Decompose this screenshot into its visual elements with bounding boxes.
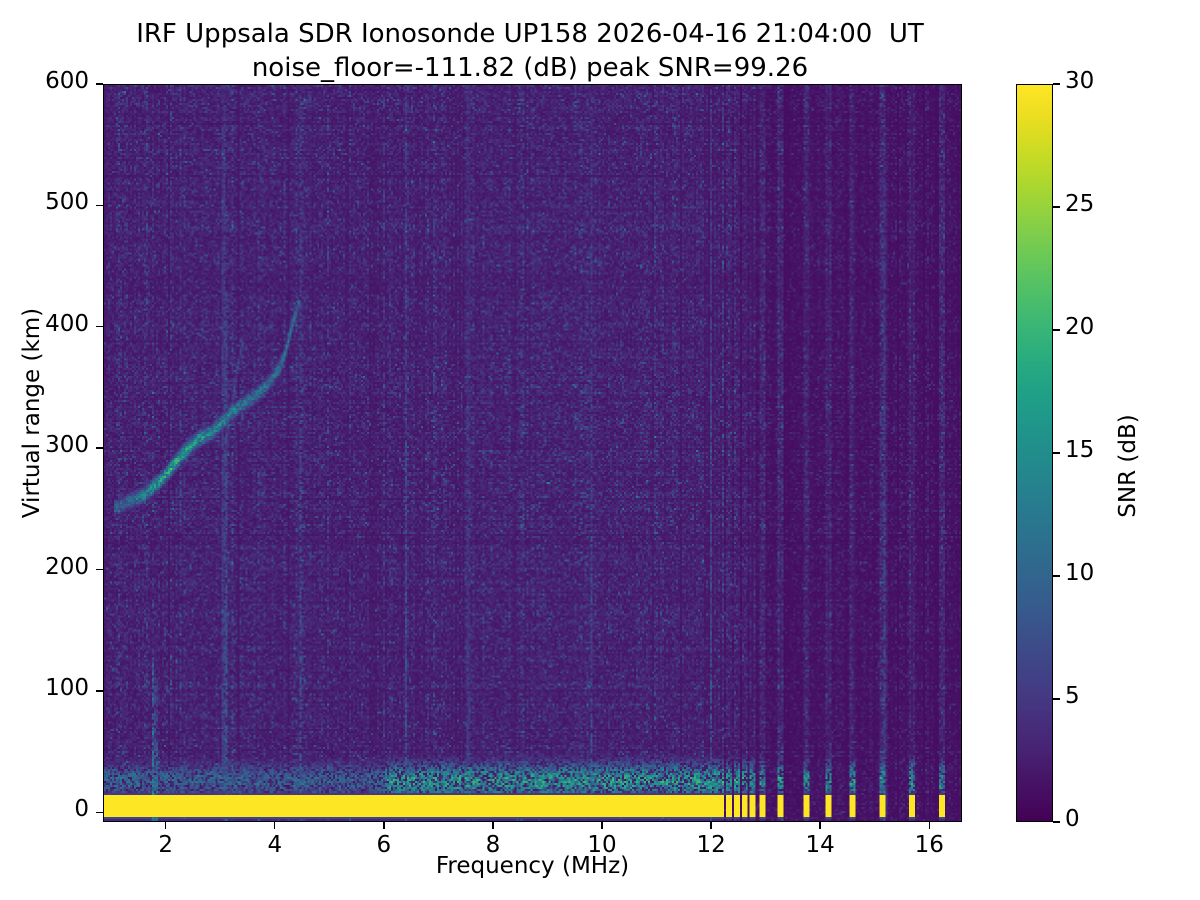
x-tick-label: 12 [681, 832, 741, 858]
figure-title: IRF Uppsala SDR Ionosonde UP158 2026-04-… [0, 18, 1060, 86]
y-tick-mark [96, 326, 103, 327]
y-tick-mark [96, 205, 103, 206]
x-tick-mark [165, 822, 166, 829]
x-tick-label: 16 [899, 832, 959, 858]
y-tick-label: 600 [0, 68, 89, 94]
x-tick-label: 10 [572, 832, 632, 858]
ionogram-heatmap [104, 85, 961, 821]
colorbar-tick-label: 5 [1065, 683, 1080, 709]
ionogram-figure: IRF Uppsala SDR Ionosonde UP158 2026-04-… [0, 0, 1200, 900]
y-tick-mark [96, 812, 103, 813]
colorbar-tick-mark [1053, 452, 1060, 453]
x-tick-mark [710, 822, 711, 829]
x-tick-mark [819, 822, 820, 829]
y-tick-label: 500 [0, 189, 89, 215]
y-tick-mark [96, 690, 103, 691]
y-tick-label: 0 [0, 796, 89, 822]
x-tick-label: 6 [354, 832, 414, 858]
x-tick-mark [274, 822, 275, 829]
colorbar-tick-label: 20 [1065, 314, 1094, 340]
colorbar-tick-mark [1053, 821, 1060, 822]
colorbar-tick-label: 15 [1065, 437, 1094, 463]
y-tick-label: 300 [0, 432, 89, 458]
colorbar-tick-mark [1053, 575, 1060, 576]
x-tick-mark [601, 822, 602, 829]
x-tick-label: 14 [790, 832, 850, 858]
colorbar-tick-label: 25 [1065, 191, 1094, 217]
colorbar-tick-label: 0 [1065, 806, 1080, 832]
y-tick-label: 400 [0, 311, 89, 337]
title-line-1: IRF Uppsala SDR Ionosonde UP158 2026-04-… [0, 18, 1060, 52]
x-tick-mark [383, 822, 384, 829]
x-tick-mark [492, 822, 493, 829]
x-tick-label: 4 [245, 832, 305, 858]
x-tick-label: 8 [463, 832, 523, 858]
title-line-2: noise_floor=-111.82 (dB) peak SNR=99.26 [0, 52, 1060, 86]
colorbar-tick-mark [1053, 329, 1060, 330]
colorbar [1016, 84, 1053, 822]
x-tick-label: 2 [136, 832, 196, 858]
y-tick-mark [96, 83, 103, 84]
y-tick-mark [96, 569, 103, 570]
y-tick-mark [96, 447, 103, 448]
x-tick-mark [929, 822, 930, 829]
colorbar-tick-label: 10 [1065, 560, 1094, 586]
y-tick-label: 100 [0, 675, 89, 701]
colorbar-tick-label: 30 [1065, 68, 1094, 94]
colorbar-gradient [1017, 85, 1052, 821]
colorbar-tick-mark [1053, 698, 1060, 699]
colorbar-label: SNR (dB) [1115, 166, 1141, 766]
colorbar-tick-mark [1053, 206, 1060, 207]
colorbar-tick-mark [1053, 83, 1060, 84]
y-tick-label: 200 [0, 554, 89, 580]
ionogram-plot-area [103, 84, 962, 822]
